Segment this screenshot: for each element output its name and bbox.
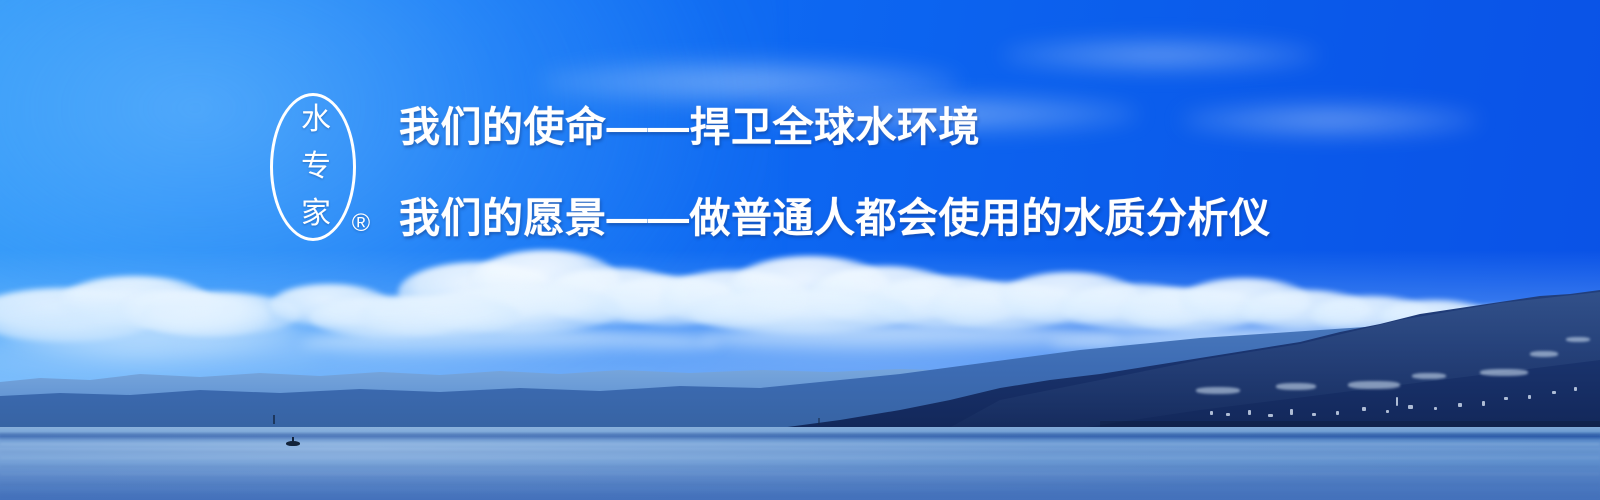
logo-characters: 水 专 家 <box>292 104 340 230</box>
logo-char-3: 家 <box>301 198 331 230</box>
slogan-block: 我们的使命——捍卫全球水环境 我们的愿景——做普通人都会使用的水质分析仪 <box>399 100 1499 245</box>
slogan-vision: 我们的愿景——做普通人都会使用的水质分析仪 <box>399 191 1499 245</box>
slogan-mission: 我们的使命——捍卫全球水环境 <box>399 100 1499 154</box>
logo-char-1: 水 <box>301 104 331 136</box>
logo-char-2: 专 <box>301 151 331 183</box>
brand-logo[interactable]: 水 专 家 ® <box>262 88 372 248</box>
hero-banner: 水 专 家 ® 我们的使命——捍卫全球水环境 我们的愿景——做普通人都会使用的水… <box>0 0 1600 500</box>
banner-content: 水 专 家 ® 我们的使命——捍卫全球水环境 我们的愿景——做普通人都会使用的水… <box>0 0 1600 500</box>
registered-trademark-icon: ® <box>348 210 374 236</box>
